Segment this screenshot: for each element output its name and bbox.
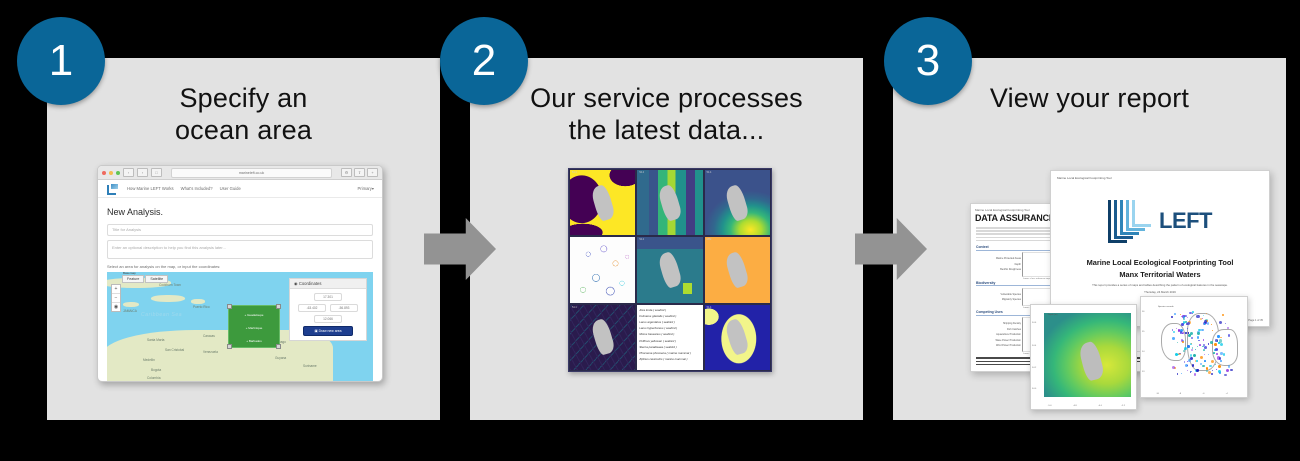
selection-label-2: + Barbados [229,337,279,345]
species-record-point [1174,313,1176,315]
points-y-tick-0: 56 [1142,311,1144,313]
nav-whats-included[interactable]: What's Included? [181,186,213,191]
species-record-point [1218,342,1219,343]
species-record-point [1228,365,1230,367]
points-x-tick-1: -8 [1179,393,1181,395]
maximize-icon[interactable] [116,171,120,175]
raster-x-tick-0: -5.6 [1048,405,1052,407]
map-label-6: Venezuela [203,350,218,354]
species-record-point [1187,345,1190,348]
species-record-point [1184,347,1187,350]
species-record-point [1219,321,1222,324]
map-zoom-controls[interactable]: + − ◉ [111,284,121,312]
map-label-0: Cockburn Town [159,283,181,287]
species-record-point [1219,372,1221,374]
chart-row-label: Vulnerable Species [979,293,1021,296]
cover-date: Thursday, 24 March 2016 [1051,290,1269,294]
step-2-title-line1: Our service processes [470,82,863,114]
landmass-hispaniola [151,295,185,302]
cell-tick-label: 54.4 [572,306,577,309]
cover-page-number: Page 1 of 35 [1248,319,1263,322]
species-record-point [1190,332,1193,335]
site-navbar: How Marine LEFT Works What's Included? U… [98,180,382,198]
chart-row-label: Wind Power Production [979,344,1021,347]
species-record-point [1182,332,1184,334]
browser-chrome: ‹ › □ marineleft.co.uk ⚙ ⇧ + [98,166,382,180]
coord-row-west-east: -63.402 -56.893 [294,304,362,312]
south-input[interactable]: 12.066 [314,315,342,323]
coordinates-title-text: Coordinates [299,281,322,286]
coord-row-south: 12.066 [294,315,362,323]
new-analysis-form: New Analysis. Title for Analysis Enter a… [98,198,382,382]
species-record-point [1181,373,1182,374]
species-name-list: Alca torda ( seabird )Fulmarus glacialis… [637,305,702,370]
resize-handle-ne[interactable] [276,304,281,309]
map-label-1: Puerto Rico [193,305,210,309]
species-record-point [1204,360,1206,362]
selection-label-1: + Martinique [229,324,279,332]
resize-handle-nw[interactable] [227,304,232,309]
grid-cell-current-velocity: 54.4 [569,304,636,371]
coordinates-panel-title: ◉ Coordinates [290,279,366,289]
map-label-4: Caracas [203,334,215,338]
species-record-point [1185,332,1187,334]
species-record-point [1192,313,1193,314]
map-label-11: Colombia [147,376,160,380]
species-record-point [1215,348,1218,351]
raster-y-tick-2: 54.2 [1032,367,1036,369]
isle-of-man-shape [724,318,750,357]
species-record-point [1181,323,1184,326]
globe-icon: ◉ [294,281,298,286]
raster-x-tick-3: -3.2 [1121,405,1125,407]
species-record-point [1222,314,1224,316]
map-label-10: Bogota [151,368,161,372]
points-plot-area [1154,305,1242,385]
chrome-right-buttons: ⚙ ⇧ + [341,168,378,177]
grid-cell-sea-surface-temperature: 54.4 [636,169,703,236]
minimize-icon[interactable] [109,171,113,175]
chart-row-label: Marine Protected Areas [979,257,1021,260]
gear-icon[interactable]: ⚙ [341,168,352,177]
species-record-point [1203,344,1205,346]
points-x-tick-2: -6 [1202,393,1204,395]
species-record-point [1212,370,1214,372]
page-title: New Analysis. [107,207,373,217]
species-record-point [1187,370,1188,371]
cell-tick-label: 54.4 [707,306,712,309]
species-record-point [1197,336,1200,339]
zoom-out-button[interactable]: − [112,294,120,303]
species-record-point [1220,337,1221,338]
species-record-point [1224,374,1226,376]
points-y-tick-2: 54 [1142,351,1144,353]
species-record-point [1204,323,1205,324]
species-record-point [1196,369,1199,372]
nav-account-menu[interactable]: Primary▾ [357,186,374,191]
resize-handle-sw[interactable] [227,344,232,349]
species-record-point [1204,320,1207,323]
species-record-point [1228,334,1230,336]
landmass-puerto-rico [191,299,205,304]
left-logo: LEFT [1108,196,1212,244]
step-number-2: 2 [440,17,528,105]
draw-icon: ▣ [315,329,318,333]
landmass-jamaica [123,302,139,307]
zoom-in-button[interactable]: + [112,285,120,294]
chart-row-label: Depth [979,263,1021,266]
species-record-point [1215,339,1217,341]
species-record-point [1195,349,1196,350]
grid-cell-bathymetry-gradient: 54.4 [704,169,771,236]
cell-tick-label: 54.4 [707,171,712,174]
step-panel-2: Our service processes the latest data...… [470,58,863,420]
sidebar-icon[interactable]: □ [151,168,162,177]
species-list-item: Ziphius cavirostris ( marine mammal ) [639,356,701,362]
step-2-title: Our service processes the latest data... [470,82,863,146]
grid-cell-seabed-substrate: MIN: [704,236,771,303]
report-thumbnail-species-points[interactable]: Species records 56 55 54 53 -10 -8 -6 -4 [1140,296,1248,398]
grid-cell-chlorophyll-concentration: 54.4 [636,236,703,303]
chart-row-label: Aquaculture Production [979,333,1021,336]
points-x-tick-3: -4 [1226,393,1228,395]
species-record-point [1198,329,1200,331]
species-record-point [1208,371,1211,374]
isle-of-man-shape [590,183,616,222]
raster-surface [1044,313,1131,396]
cell-tick-label: 54.4 [572,171,577,174]
map-label-2: JAMAICA [123,309,137,313]
step-panel-3: View your report Marine Local Ecological… [893,58,1286,420]
selected-area-rectangle[interactable]: + Guadeloupe + Martinique + Barbados [228,305,280,348]
close-icon[interactable] [102,171,106,175]
pan-button[interactable]: ◉ [112,303,120,311]
basemap-tab-satellite[interactable]: Satellite [145,275,168,283]
species-record-point [1177,342,1178,343]
basemap-label: Basemap [123,272,136,275]
species-record-point [1187,322,1189,324]
species-record-point [1218,365,1221,368]
raster-x-tick-1: -4.8 [1073,405,1077,407]
cover-title-line1: Marine Local Ecological Footprinting Too… [1051,258,1269,267]
isle-of-man-shape [724,183,750,222]
east-input[interactable]: -56.893 [330,304,358,312]
map-label-5: San Cristobal [165,348,184,352]
raster-x-tick-2: -4.0 [1098,405,1102,407]
north-input[interactable]: 17.301 [314,293,342,301]
left-logo-wordmark: LEFT [1159,208,1212,234]
cell-tick-label: 54.4 [639,171,644,174]
cover-subtitle: This report provides a series of maps an… [1051,283,1269,287]
step-1-title: Specify an ocean area [47,82,440,146]
step-number-1: 1 [17,17,105,105]
nav-user-guide[interactable]: User Guide [220,186,241,191]
coord-row-north: 17.301 [294,293,362,301]
raster-y-tick-3: 54.0 [1032,388,1036,390]
species-record-point [1217,335,1219,337]
coordinates-panel[interactable]: ◉ Coordinates 17.301 -63.402 -56.893 [289,278,367,341]
map-label-9: Medellin [143,358,155,362]
species-record-point [1219,357,1222,360]
species-record-point [1187,317,1188,318]
species-record-point [1177,373,1179,375]
species-record-point [1172,337,1175,340]
analysis-description-input[interactable]: Enter an optional description to help yo… [107,240,373,259]
species-record-point [1182,341,1184,343]
raster-caption: Depth (m) [1048,314,1058,316]
chart-row-label: Wave Power Production [979,339,1021,342]
species-record-point [1172,329,1173,330]
left-logo-glyph-icon [1108,196,1158,244]
share-icon[interactable]: ⇧ [354,168,365,177]
species-record-point [1187,365,1188,366]
grid-cell-habitat-suitability: 54.4 [569,169,636,236]
species-record-point [1215,364,1216,365]
points-surface [1154,305,1242,385]
resize-handle-se[interactable] [276,344,281,349]
step-number-3: 3 [884,17,972,105]
basemap-switcher[interactable]: Basemap Feature Satellite [122,275,168,283]
cover-brand: Marine Local Ecological Footprinting Too… [1057,176,1269,180]
map-label-8: Guyana [275,356,286,360]
isle-of-man-shape [1078,340,1106,382]
chart-row-label: Benthic Roughness [979,268,1021,271]
address-bar[interactable]: marineleft.co.uk [171,168,332,178]
points-y-tick-3: 53 [1142,371,1144,373]
species-record-point [1211,373,1213,375]
species-record-point [1216,369,1217,370]
map-label-12: Suriname [303,364,317,368]
step-1-title-line1: Specify an [47,82,440,114]
draw-new-area-label: Draw new area [319,329,342,333]
raster-y-tick-1: 54.4 [1032,345,1036,347]
step-2-title-line2: the latest data... [470,114,863,146]
west-input[interactable]: -63.402 [298,304,326,312]
step-1-title-line2: ocean area [47,114,440,146]
grid-cell-species-list: Alca torda ( seabird )Fulmarus glacialis… [636,304,703,371]
species-record-point [1201,329,1203,331]
analysis-title-input[interactable]: Title for Analysis [107,224,373,236]
left-logo-icon [106,184,120,194]
back-icon[interactable]: ‹ [123,168,134,177]
map-hint-text: Select an area for analysis on the map, … [107,264,373,269]
chart-row-label: Shipping Density [979,322,1021,325]
forward-icon[interactable]: › [137,168,148,177]
species-record-point [1230,369,1233,372]
raster-y-tick-0: 54.6 [1032,322,1036,324]
species-record-point [1202,346,1203,347]
draw-new-area-button[interactable]: ▣ Draw new area [303,326,353,336]
species-record-point [1225,323,1227,325]
points-y-tick-1: 55 [1142,331,1144,333]
chart-row-label: Migratory Species [979,298,1021,301]
species-record-point [1208,343,1209,344]
isle-of-man-shape [724,251,750,290]
points-x-tick-0: -10 [1156,393,1159,395]
species-record-point [1184,361,1185,362]
step-panel-1: Specify an ocean area ‹ › □ marineleft.c… [47,58,440,420]
nav-how-it-works[interactable]: How Marine LEFT Works [127,186,174,191]
grid-cell-protected-areas: 54.4 [704,304,771,371]
assurance-title-bold: DATA ASSURANCE: [975,213,1058,223]
add-tab-icon[interactable]: + [367,168,378,177]
species-record-point [1209,365,1212,368]
browser-window-mock[interactable]: ‹ › □ marineleft.co.uk ⚙ ⇧ + How Marine … [97,165,383,382]
species-record-point [1191,371,1192,372]
species-record-point [1223,353,1225,355]
raster-plot-area [1044,313,1131,396]
data-layer-grid: 54.4 54.4 54.4 54.4 MIN: 54.4 [568,168,772,372]
selection-label-0: + Guadeloupe [229,311,279,319]
species-record-point [1180,331,1182,333]
map-label-3: Santa Marta [147,338,164,342]
species-record-point [1216,353,1219,356]
species-record-point [1202,365,1204,367]
species-record-point [1199,344,1201,346]
report-thumbnail-raster-map[interactable]: Depth (m) 54.6 54.4 54.2 54.0 -5.6 -4.8 … [1030,304,1137,410]
isle-of-man-shape [657,251,683,290]
species-record-point [1210,341,1213,344]
basemap-tab-feature[interactable]: Feature [122,275,144,283]
area-selection-map[interactable]: Caribbean Sea Cockburn TownPuerto RicoJA… [107,272,373,382]
species-record-point [1220,343,1223,346]
species-record-point [1207,322,1210,325]
species-record-point [1193,354,1196,357]
cell-tick-label: 54.4 [639,238,644,241]
species-record-point [1194,373,1196,375]
species-record-point [1203,339,1204,340]
isle-of-man-shape [657,183,683,222]
grid-cell-species-occurrence-points [569,236,636,303]
sea-label: Caribbean Sea [141,312,182,318]
species-record-point [1226,369,1229,372]
cover-title-line2: Manx Territorial Waters [1051,270,1269,279]
chart-row-label: Fish Catches [979,328,1021,331]
species-record-point [1171,316,1173,318]
cell-tick-label: MIN: [707,238,712,241]
infographic-canvas: Specify an ocean area ‹ › □ marineleft.c… [0,0,1300,461]
isle-of-man-shape [590,318,616,357]
species-record-point [1206,367,1208,369]
coordinates-fields: 17.301 -63.402 -56.893 12.066 ▣ [290,289,366,340]
points-caption: Species records [1158,306,1174,308]
